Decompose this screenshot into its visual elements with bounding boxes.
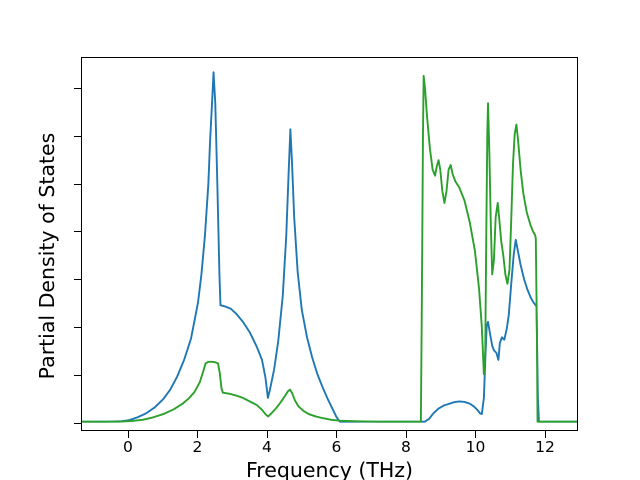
x-tick-label: 0: [123, 438, 133, 456]
y-tick-mark: [74, 423, 81, 424]
curve-layer: [82, 58, 577, 430]
x-tick-mark: [128, 431, 129, 438]
y-tick-mark: [74, 327, 81, 328]
x-tick-label: 2: [192, 438, 202, 456]
x-tick-mark: [336, 431, 337, 438]
y-tick-mark: [74, 279, 81, 280]
x-tick-mark: [475, 431, 476, 438]
figure-canvas: Partial Density of States Frequency (THz…: [0, 0, 640, 480]
x-axis-label: Frequency (THz): [81, 458, 578, 480]
x-tick-mark: [197, 431, 198, 438]
y-tick-mark: [74, 231, 81, 232]
x-tick-label: 8: [401, 438, 411, 456]
plot-area: [81, 57, 578, 431]
y-axis-label: Partial Density of States: [35, 46, 59, 466]
x-tick-label: 10: [466, 438, 486, 456]
y-tick-mark: [74, 88, 81, 89]
x-tick-mark: [545, 431, 546, 438]
y-tick-mark: [74, 184, 81, 185]
x-tick-mark: [267, 431, 268, 438]
y-tick-mark: [74, 375, 81, 376]
x-tick-label: 6: [332, 438, 342, 456]
y-tick-mark: [74, 136, 81, 137]
x-tick-label: 4: [262, 438, 272, 456]
x-tick-mark: [406, 431, 407, 438]
series-green: [82, 76, 577, 422]
x-tick-label: 12: [535, 438, 555, 456]
